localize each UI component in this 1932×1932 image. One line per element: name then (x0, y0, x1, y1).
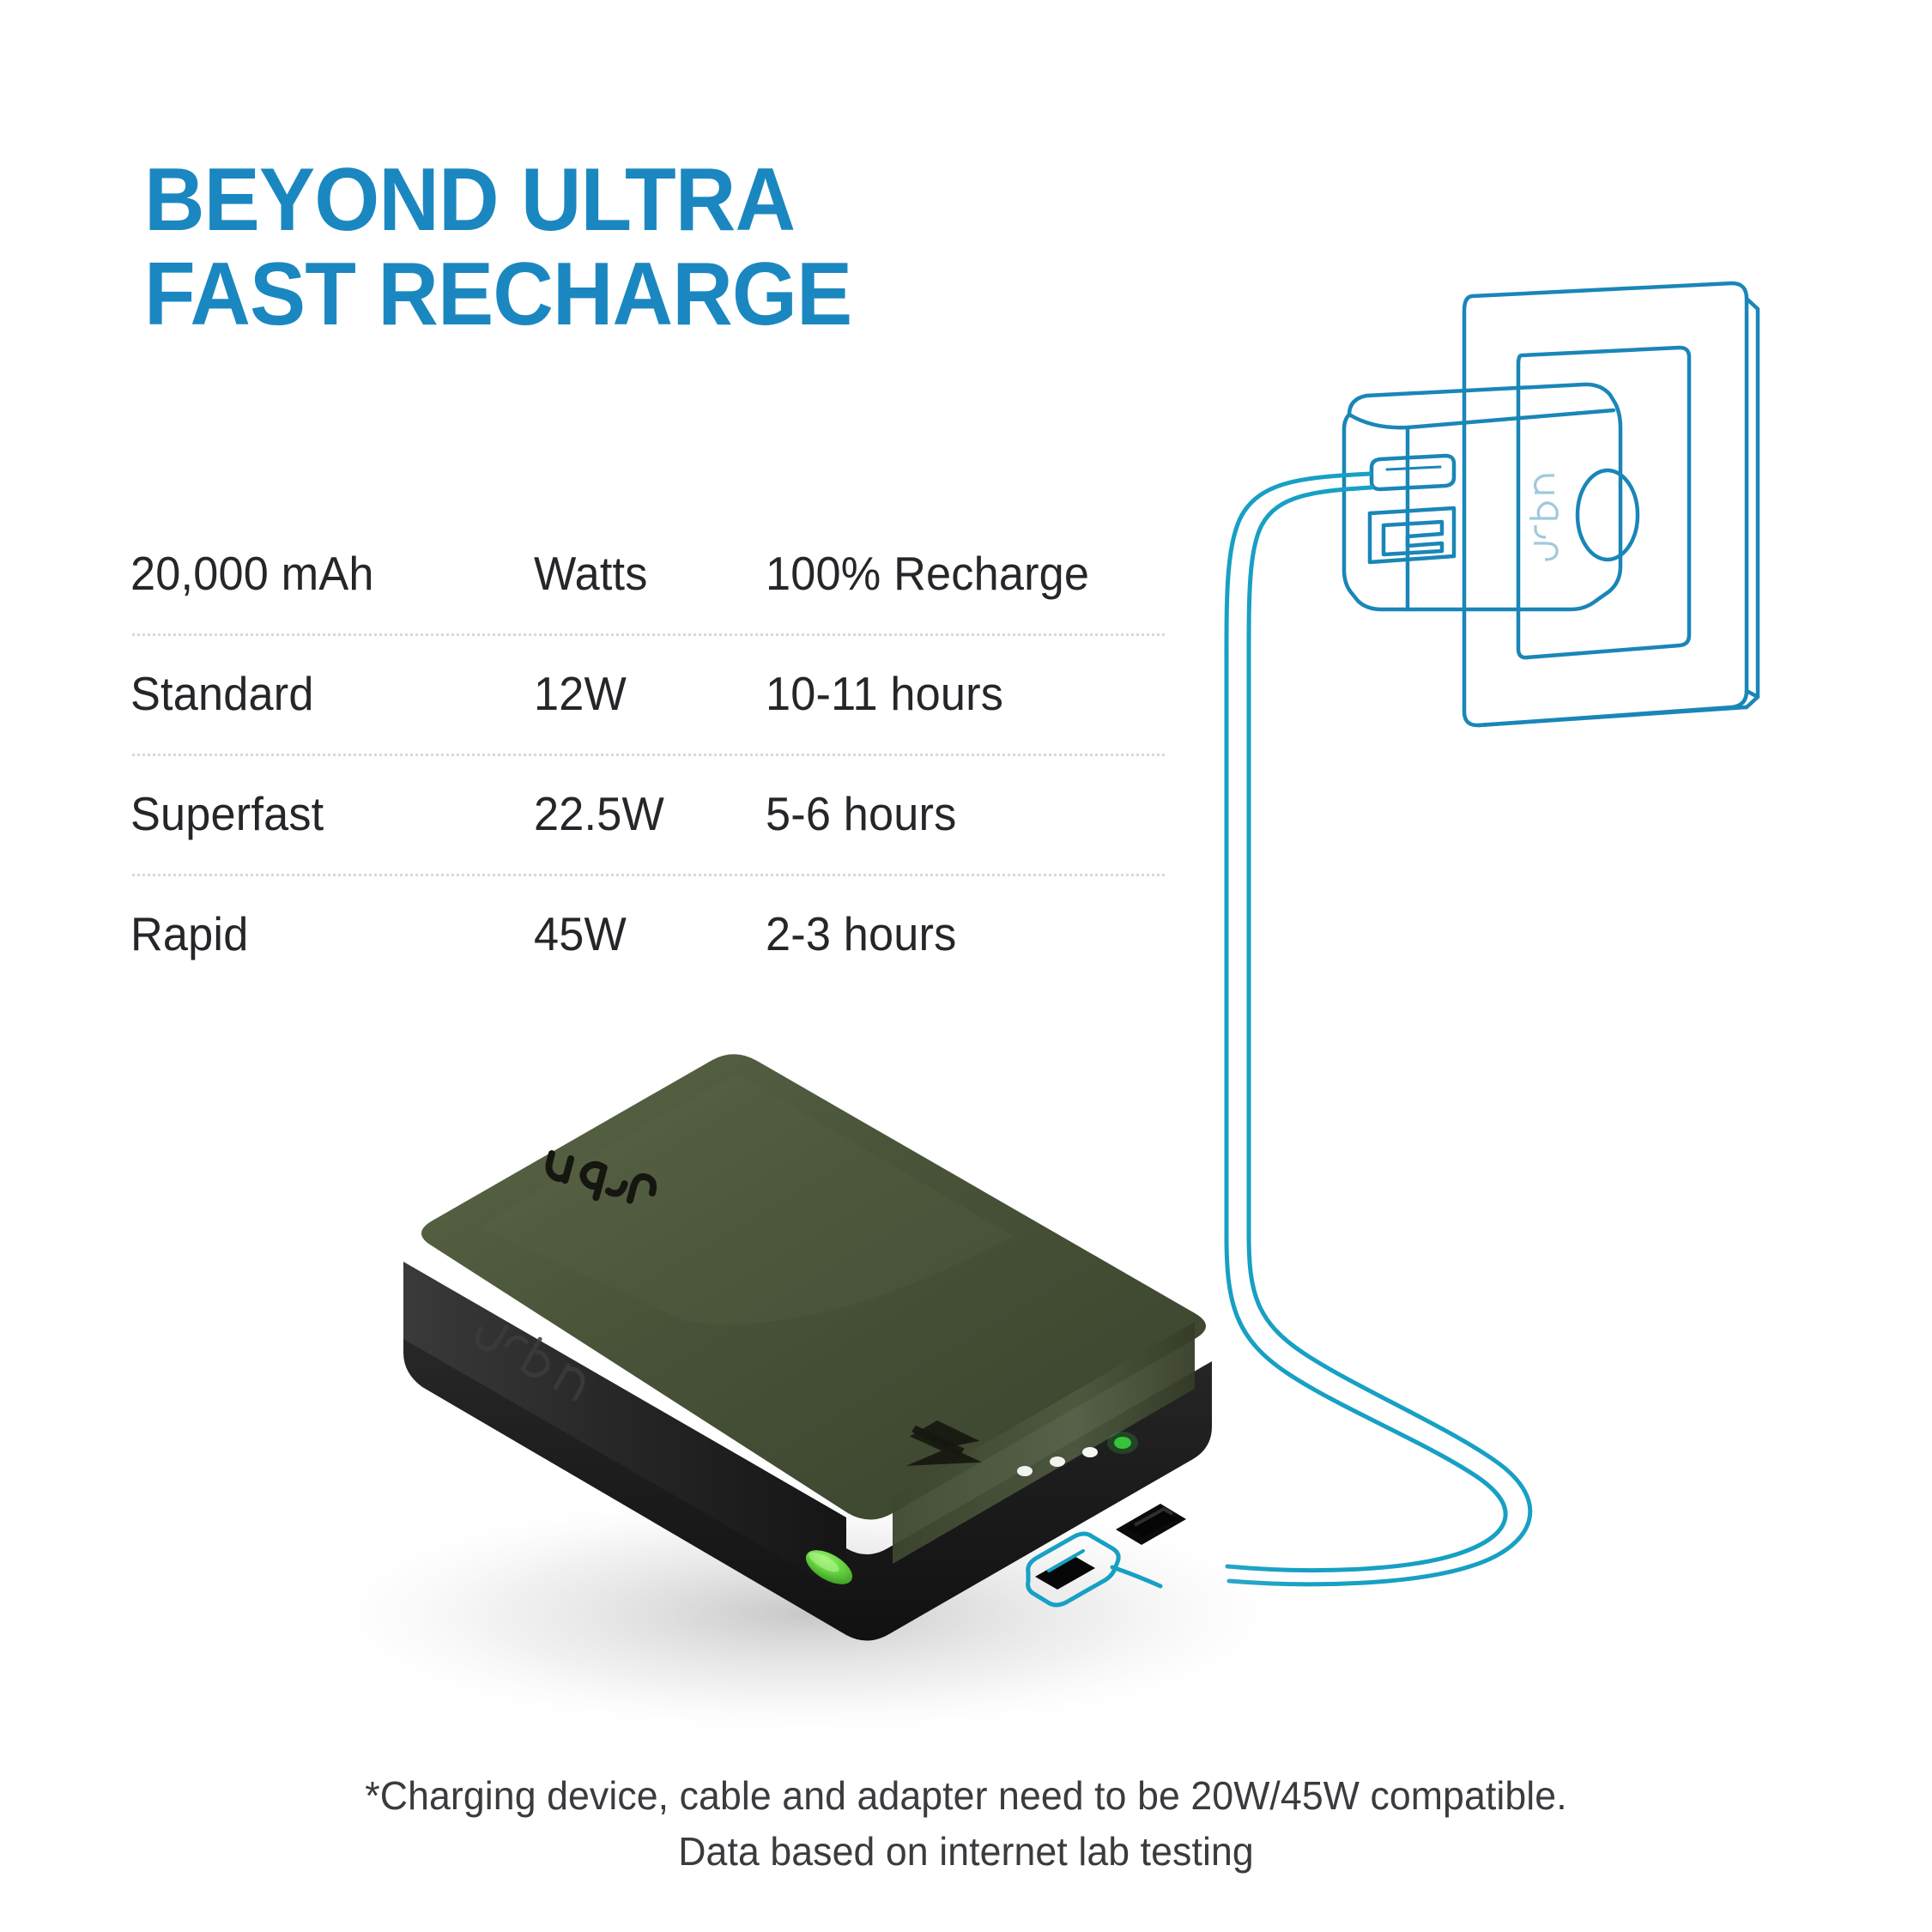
infographic-canvas: BEYOND ULTRA FAST RECHARGE 20,000 mAh Wa… (0, 0, 1932, 1932)
power-bank-product (0, 0, 1932, 1932)
led-indicator-2 (1050, 1457, 1065, 1467)
footnote: *Charging device, cable and adapter need… (29, 1768, 1903, 1881)
footnote-line-2: Data based on internet lab testing (29, 1824, 1903, 1880)
footnote-line-1: *Charging device, cable and adapter need… (29, 1768, 1903, 1824)
led-indicator-1 (1017, 1466, 1033, 1476)
led-indicator-3 (1082, 1447, 1098, 1457)
